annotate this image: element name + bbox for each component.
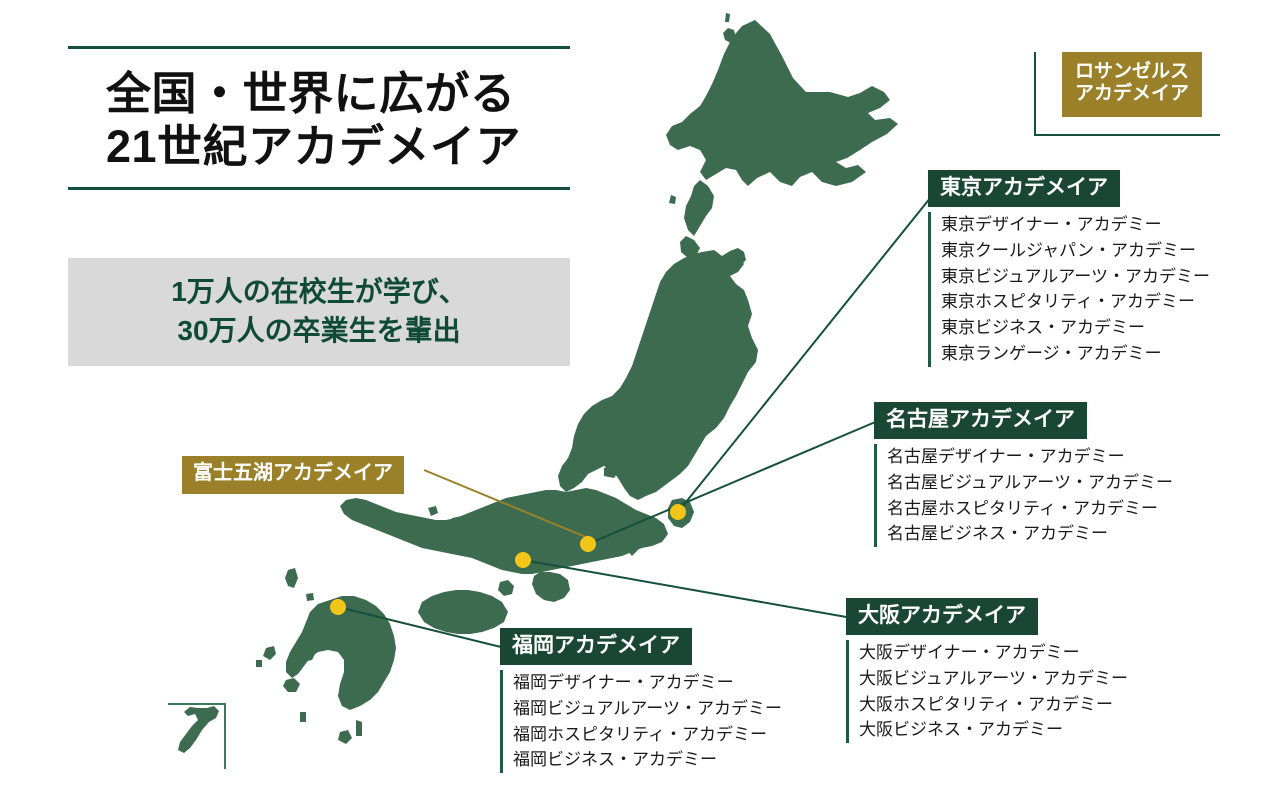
nagoya-marker[interactable] xyxy=(580,536,596,552)
subtitle-line-1: 1万人の在校生が学び、 xyxy=(171,273,467,312)
list-item: 名古屋ビジュアルアーツ・アカデミー xyxy=(887,470,1173,496)
oshima-peninsula xyxy=(684,180,714,236)
page-title-line-1: 全国・世界に広がる xyxy=(106,67,570,120)
amakusa-islands xyxy=(283,678,300,692)
list-item: 福岡ビジュアルアーツ・アカデミー xyxy=(513,696,782,722)
los-angeles-bracket-vertical xyxy=(1034,52,1036,136)
list-item: 福岡ホスピタリティ・アカデミー xyxy=(513,722,782,748)
list-item: 東京デザイナー・アカデミー xyxy=(941,212,1210,238)
callout-tokyo: 東京アカデメイア 東京デザイナー・アカデミー 東京クールジャパン・アカデミー 東… xyxy=(928,170,1210,367)
list-item: 東京ランゲージ・アカデミー xyxy=(941,341,1210,367)
osaka-marker[interactable] xyxy=(515,552,531,568)
tokyo-marker[interactable] xyxy=(670,504,686,520)
title-block: 全国・世界に広がる 21世紀アカデメイア xyxy=(68,46,570,190)
koshikijima-island xyxy=(300,712,306,722)
list-item: 東京ビジュアルアーツ・アカデミー xyxy=(941,264,1210,290)
infographic-canvas: 全国・世界に広がる 21世紀アカデメイア 1万人の在校生が学び、 30万人の卒業… xyxy=(0,0,1280,792)
tanegashima-island xyxy=(356,720,362,736)
los-angeles-bracket-horizontal xyxy=(1034,134,1220,136)
page-title: 全国・世界に広がる 21世紀アカデメイア xyxy=(68,49,570,187)
callout-fukuoka-header[interactable]: 福岡アカデメイア xyxy=(500,628,692,665)
fuji-five-lakes-label[interactable]: 富士五湖アカデメイア xyxy=(182,456,404,494)
callout-nagoya-header[interactable]: 名古屋アカデメイア xyxy=(874,402,1087,439)
list-item: 福岡デザイナー・アカデミー xyxy=(513,670,782,696)
callout-fukuoka: 福岡アカデメイア 福岡デザイナー・アカデミー 福岡ビジュアルアーツ・アカデミー … xyxy=(500,628,782,773)
callout-tokyo-header[interactable]: 東京アカデメイア xyxy=(928,170,1120,207)
callout-nagoya: 名古屋アカデメイア 名古屋デザイナー・アカデミー 名古屋ビジュアルアーツ・アカデ… xyxy=(874,402,1173,547)
list-item: 大阪デザイナー・アカデミー xyxy=(859,640,1128,666)
okushiri-island xyxy=(669,195,676,204)
rebun-island xyxy=(725,13,730,22)
honshu-tohoku xyxy=(558,250,758,500)
okinawa-shape xyxy=(178,706,219,753)
callout-fukuoka-list: 福岡デザイナー・アカデミー 福岡ビジュアルアーツ・アカデミー 福岡ホスピタリティ… xyxy=(500,670,782,773)
list-item: 名古屋ホスピタリティ・アカデミー xyxy=(887,496,1173,522)
subtitle-box: 1万人の在校生が学び、 30万人の卒業生を輩出 xyxy=(68,258,570,366)
title-rule-bottom xyxy=(68,187,570,190)
list-item: 福岡ビジネス・アカデミー xyxy=(513,747,782,773)
yakushima-island xyxy=(338,730,352,744)
goto-islands xyxy=(263,646,276,660)
callout-osaka: 大阪アカデメイア 大阪デザイナー・アカデミー 大阪ビジュアルアーツ・アカデミー … xyxy=(846,598,1128,743)
oki-islands xyxy=(428,506,438,516)
list-item: 東京クールジャパン・アカデミー xyxy=(941,238,1210,264)
list-item: 名古屋デザイナー・アカデミー xyxy=(887,444,1173,470)
page-title-line-2: 21世紀アカデメイア xyxy=(106,120,570,173)
iki-island xyxy=(306,593,314,601)
list-item: 大阪ビジュアルアーツ・アカデミー xyxy=(859,666,1128,692)
callout-osaka-list: 大阪デザイナー・アカデミー 大阪ビジュアルアーツ・アカデミー 大阪ホスピタリティ… xyxy=(846,640,1128,743)
los-angeles-label-line-1: ロサンゼルス xyxy=(1075,61,1189,82)
list-item: 東京ビジネス・アカデミー xyxy=(941,315,1210,341)
subtitle-line-2: 30万人の卒業生を輩出 xyxy=(177,312,460,351)
fuji-five-lakes-label-text: 富士五湖アカデメイア xyxy=(193,462,393,484)
shikoku-shape xyxy=(418,590,508,634)
hokkaido-shape xyxy=(666,20,898,186)
list-item: 大阪ホスピタリティ・アカデミー xyxy=(859,692,1128,718)
los-angeles-label-line-2: アカデメイア xyxy=(1075,83,1189,104)
tsushima-island xyxy=(285,568,298,588)
list-item: 東京ホスピタリティ・アカデミー xyxy=(941,289,1210,315)
callout-osaka-header[interactable]: 大阪アカデメイア xyxy=(846,598,1038,635)
callout-nagoya-list: 名古屋デザイナー・アカデミー 名古屋ビジュアルアーツ・アカデミー 名古屋ホスピタ… xyxy=(874,444,1173,547)
osaka-connector xyxy=(523,560,852,618)
los-angeles-label[interactable]: ロサンゼルス アカデメイア xyxy=(1062,52,1202,117)
list-item: 名古屋ビジネス・アカデミー xyxy=(887,521,1173,547)
okinawa-inset-bracket-vertical xyxy=(224,703,226,769)
callout-tokyo-list: 東京デザイナー・アカデミー 東京クールジャパン・アカデミー 東京ビジュアルアーツ… xyxy=(928,212,1210,367)
okinawa-inset-bracket-horizontal xyxy=(168,703,226,705)
goto-island-small xyxy=(256,660,262,667)
awaji-island xyxy=(498,580,514,596)
kii-peninsula xyxy=(532,572,570,602)
fukuoka-marker[interactable] xyxy=(330,599,346,615)
list-item: 大阪ビジネス・アカデミー xyxy=(859,717,1128,743)
